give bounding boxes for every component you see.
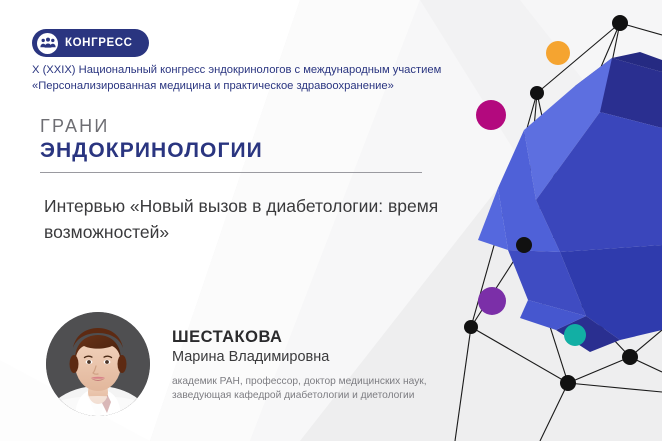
congress-badge: КОНГРЕСС [32,29,149,57]
speaker-credentials: академик РАН, профессор, доктор медицинс… [172,375,434,402]
content-column: КОНГРЕСС X (XXIX) Национальный конгресс … [0,0,470,441]
congress-description: X (XXIX) Национальный конгресс эндокрино… [32,62,462,94]
section-title-main: ЭНДОКРИНОЛОГИИ [40,138,263,163]
congress-line-2: «Персонализированная медицина и практиче… [32,78,462,94]
congress-line-1: X (XXIX) Национальный конгресс эндокрино… [32,62,462,78]
speaker-text: ШЕСТАКОВА Марина Владимировна академик Р… [172,312,434,402]
section-title-top: ГРАНИ [40,116,263,137]
promo-poster: КОНГРЕСС X (XXIX) Национальный конгресс … [0,0,662,441]
title-divider [40,172,422,173]
section-title: ГРАНИ ЭНДОКРИНОЛОГИИ [40,116,263,163]
speaker-surname: ШЕСТАКОВА [172,328,434,347]
speaker-given-name: Марина Владимировна [172,348,434,367]
people-group-icon [37,33,58,54]
congress-badge-label: КОНГРЕСС [65,37,133,49]
interview-headline: Интервью «Новый вызов в диабетологии: вр… [44,193,454,245]
avatar [46,312,150,416]
speaker-block: ШЕСТАКОВА Марина Владимировна академик Р… [46,312,434,416]
